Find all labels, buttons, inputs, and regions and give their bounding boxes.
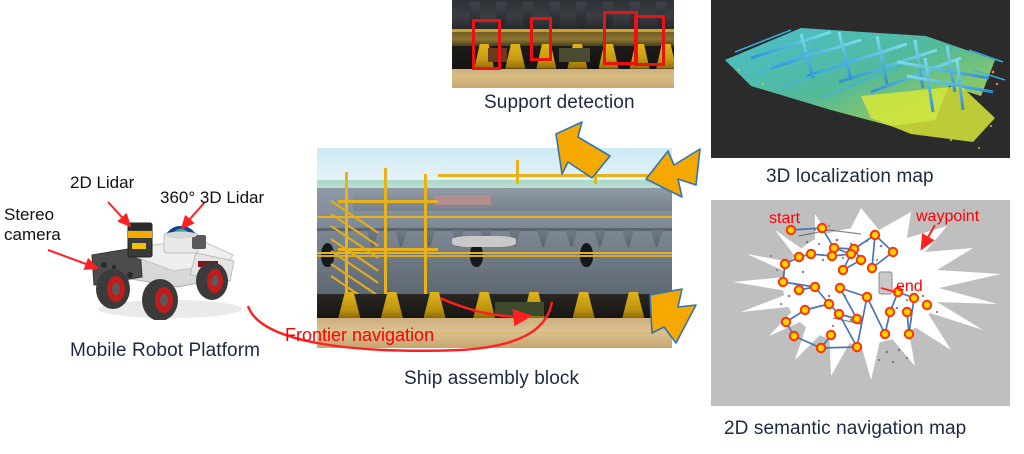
caption-2d-semantic-navigation-map: 2D semantic navigation map <box>724 418 966 440</box>
label-stereo-camera-line1: Stereo <box>4 205 61 225</box>
caption-ship-assembly-block: Ship assembly block <box>404 368 579 390</box>
label-stereo-camera-line2: camera <box>4 225 61 245</box>
label-stereo-camera: Stereo camera <box>4 205 61 244</box>
caption-3d-localization-map: 3D localization map <box>766 166 934 188</box>
label-2d-lidar: 2D Lidar <box>70 173 134 193</box>
2d-semantic-navigation-map-image: start waypoint end <box>711 200 1010 406</box>
caption-support-detection: Support detection <box>484 92 635 114</box>
label-frontier-navigation: Frontier navigation <box>285 325 434 346</box>
figure-root: Stereo camera 2D Lidar 360° 3D Lidar Mob… <box>0 0 1024 454</box>
3d-localization-map-image <box>711 0 1010 158</box>
detection-box <box>634 15 665 66</box>
arrow-to-2d-map <box>636 283 704 349</box>
detection-box <box>530 17 552 61</box>
detection-box <box>472 19 501 69</box>
arrow-to-support-detection <box>552 120 614 182</box>
map-waypoint-leader <box>711 200 1010 406</box>
arrow-to-3d-map <box>638 145 704 207</box>
label-3d-lidar: 360° 3D Lidar <box>160 188 264 208</box>
support-detection-photo <box>452 0 674 88</box>
